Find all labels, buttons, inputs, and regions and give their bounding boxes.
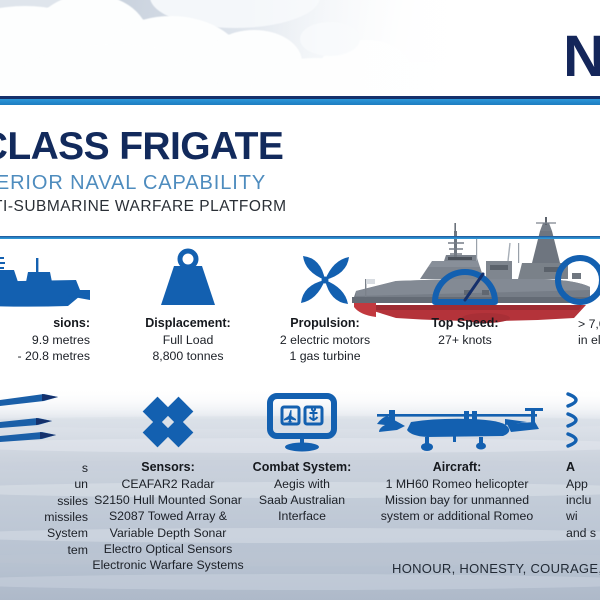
missiles-icon (0, 392, 88, 454)
spec-item-top-speed: Top Speed: 27+ knots (400, 248, 530, 348)
spec-line: System (0, 525, 88, 541)
spec-line: Variable Depth Sonar (78, 525, 258, 541)
spec-item-weapons: s un ssiles missiles System tem (0, 392, 88, 558)
four-diamonds-sensors-icon (78, 392, 258, 454)
brand-initial: N (563, 28, 600, 86)
spec-line: Aegis with (240, 476, 364, 492)
spec-heading: Top Speed: (400, 316, 530, 332)
spec-line: Mission bay for unmanned (368, 492, 546, 508)
spec-heading: Aircraft: (368, 460, 546, 476)
spec-row-primary: sions: 9.9 metres - 20.8 metres Displace… (0, 248, 600, 378)
spec-line: missiles (0, 509, 88, 525)
spec-line: s (0, 460, 88, 476)
spec-line: 9.9 metres (0, 332, 90, 348)
spec-line: Interface (240, 508, 364, 524)
spec-item-combat-system: Combat System: Aegis with Saab Australia… (240, 392, 364, 525)
speedometer-icon (400, 248, 530, 310)
spec-item-propulsion: Propulsion: 2 electric motors 1 gas turb… (255, 248, 395, 364)
spec-item-range: > 7,0 in el (578, 248, 600, 349)
spec-line: in el (578, 332, 600, 348)
spec-line: 2 electric motors (255, 332, 395, 348)
spec-line: S2087 Towed Array & (78, 508, 258, 524)
combat-console-icon (240, 392, 364, 454)
spec-line: S2150 Hull Mounted Sonar (78, 492, 258, 508)
title-subtitle-primary: SUPERIOR NAVAL CAPABILITY (0, 173, 266, 193)
warship-profile-icon (0, 248, 90, 310)
spec-line: tem (0, 542, 88, 558)
spec-line: - 20.8 metres (0, 348, 90, 364)
spec-line: Electro Optical Sensors (78, 541, 258, 557)
spec-item-sensors: Sensors: CEAFAR2 Radar S2150 Hull Mounte… (78, 392, 258, 574)
spec-heading: Sensors: (78, 460, 258, 476)
spec-item-boats: A App inclu wi and s (566, 392, 600, 541)
title-divider (0, 236, 600, 239)
infographic-poster: N R CLASS FRIGATE SUPERIOR NAVAL CAPABIL… (0, 0, 600, 600)
spec-heading: Combat System: (240, 460, 364, 476)
spec-line: App (566, 476, 600, 492)
spec-line: wi (566, 508, 600, 524)
header-divider (0, 96, 600, 105)
spec-heading: A (566, 460, 600, 476)
motto-text: HONOUR, HONESTY, COURAGE, I (392, 561, 600, 576)
spec-line: ssiles (0, 493, 88, 509)
spec-line: 1 gas turbine (255, 348, 395, 364)
spec-line: un (0, 476, 88, 492)
spec-line: Saab Australian (240, 492, 364, 508)
spec-heading: Displacement: (118, 316, 258, 332)
spec-line: CEAFAR2 Radar (78, 476, 258, 492)
page-title: R CLASS FRIGATE (0, 127, 283, 166)
spec-line: > 7,0 (578, 316, 600, 332)
spec-line: 27+ knots (400, 332, 530, 348)
title-subtitle-secondary: Y ANTI-SUBMARINE WARFARE PLATFORM (0, 199, 287, 215)
propeller-icon (255, 248, 395, 310)
range-icon (578, 248, 600, 310)
spec-line: 8,800 tonnes (118, 348, 258, 364)
weight-icon (118, 248, 258, 310)
spec-item-displacement: Displacement: Full Load 8,800 tonnes (118, 248, 258, 364)
sky-banner: N (0, 0, 600, 96)
boats-icon (566, 392, 600, 454)
sky-fade-overlay (0, 0, 600, 96)
helicopter-icon (368, 392, 546, 454)
title-block: R CLASS FRIGATE SUPERIOR NAVAL CAPABILIT… (0, 105, 600, 237)
spec-line: 1 MH60 Romeo helicopter (368, 476, 546, 492)
spec-heading: Propulsion: (255, 316, 395, 332)
spec-item-dimensions: sions: 9.9 metres - 20.8 metres (0, 248, 90, 364)
spec-line: Full Load (118, 332, 258, 348)
spec-line: and s (566, 525, 600, 541)
spec-item-aircraft: Aircraft: 1 MH60 Romeo helicopter Missio… (368, 392, 546, 525)
spec-line: system or additional Romeo (368, 508, 546, 524)
spec-line: Electronic Warfare Systems (78, 557, 258, 573)
spec-line: inclu (566, 492, 600, 508)
spec-heading: sions: (0, 316, 90, 332)
